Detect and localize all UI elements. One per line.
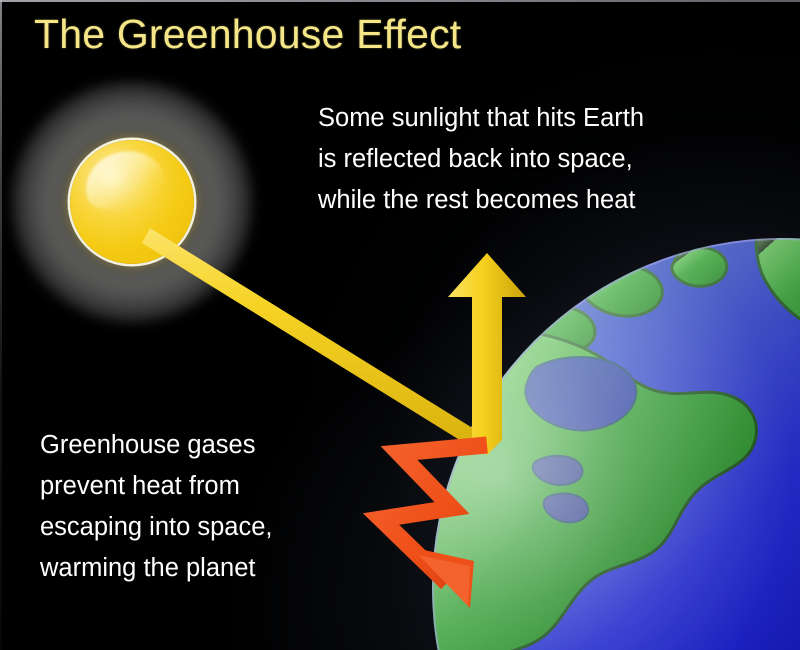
caption-greenhouse: Greenhouse gases prevent heat from escap… [40,425,273,589]
caption-sunlight-line-2: is reflected back into space, [318,139,644,180]
top-edge-line [0,0,800,2]
page-title: The Greenhouse Effect [34,12,461,57]
caption-greenhouse-line-4: warming the planet [40,548,273,589]
caption-greenhouse-line-3: escaping into space, [40,507,273,548]
caption-sunlight-line-1: Some sunlight that hits Earth [318,98,644,139]
trapped-heat-arrowhead [397,533,474,608]
caption-greenhouse-line-1: Greenhouse gases [40,425,273,466]
caption-sunlight: Some sunlight that hits Earth is reflect… [318,98,644,221]
greenhouse-effect-slide: The Greenhouse Effect Some sunlight that… [0,0,800,650]
caption-sunlight-line-3: while the rest becomes heat [318,180,644,221]
incoming-sunlight-ray [142,228,487,452]
caption-greenhouse-line-2: prevent heat from [40,466,273,507]
left-edge-line [0,0,2,650]
